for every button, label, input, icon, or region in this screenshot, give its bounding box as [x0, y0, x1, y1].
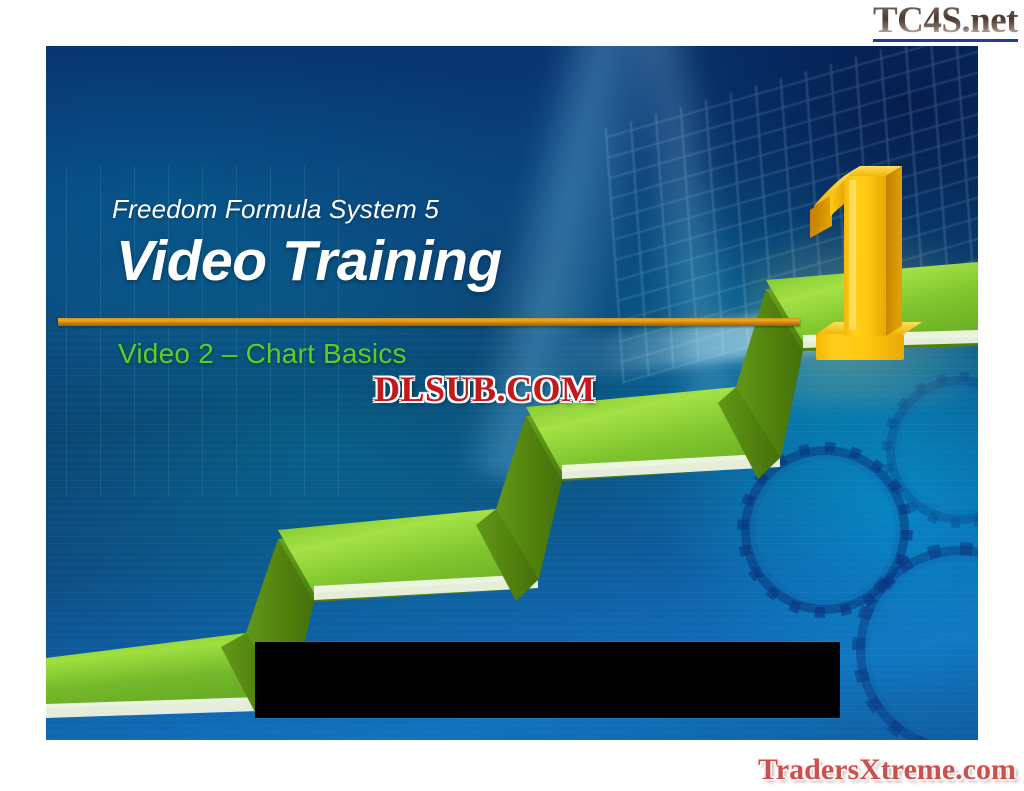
tc4s-net-logo: TC4S.net	[873, 2, 1018, 39]
stair-step-2	[278, 509, 539, 602]
stair-step-4	[766, 262, 978, 351]
background-light-streak	[565, 288, 978, 380]
slide-subtitle: Video 2 – Chart Basics	[118, 338, 407, 370]
background-gear-icon	[856, 546, 978, 740]
background-dark-corner	[618, 46, 978, 336]
background-gear-icon	[886, 376, 978, 524]
numeral-one-graphic	[794, 150, 922, 370]
stair-riser-2	[496, 416, 562, 579]
background-gear-icon	[741, 446, 909, 614]
screenshot-canvas: TC4S.net	[0, 0, 1024, 791]
background-keyboard-image	[605, 46, 978, 384]
title-divider-rule	[58, 318, 800, 326]
redaction-bar	[255, 642, 840, 718]
presentation-slide: Freedom Formula System 5 Video Training …	[46, 46, 978, 740]
background-warm-glow	[746, 216, 978, 406]
tradersxtreme-logo: TradersXtreme.com	[758, 755, 1016, 785]
background-light-ray	[614, 46, 757, 449]
stair-riser-3	[736, 289, 803, 457]
dlsub-watermark: DLSUB.COM	[374, 371, 596, 407]
slide-title: Video Training	[116, 228, 502, 294]
slide-eyebrow-text: Freedom Formula System 5	[112, 194, 439, 225]
